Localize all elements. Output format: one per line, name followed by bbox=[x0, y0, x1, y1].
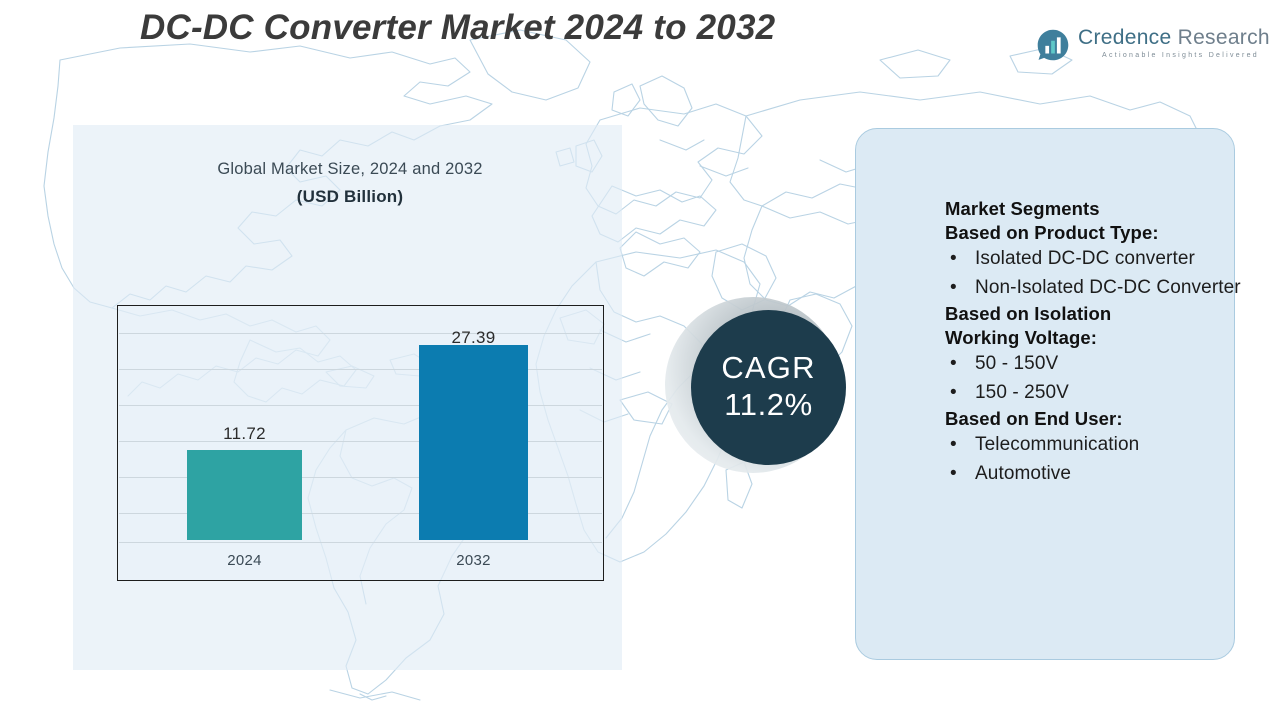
brand-part2: Research bbox=[1178, 26, 1270, 49]
list-item-label: Isolated DC-DC converter bbox=[975, 248, 1195, 269]
bullet-icon: • bbox=[950, 460, 957, 489]
bar-2032 bbox=[419, 345, 528, 540]
bullet-icon: • bbox=[950, 350, 957, 379]
x-axis-label-2032: 2032 bbox=[419, 552, 528, 569]
chart-heading-line2: (USD Billion) bbox=[80, 187, 620, 207]
gridline bbox=[119, 333, 602, 334]
list-item: • 150 - 250V bbox=[945, 379, 1245, 408]
list-item-label: Automotive bbox=[975, 463, 1071, 484]
cagr-label: CAGR bbox=[721, 352, 815, 385]
bar-2024 bbox=[187, 450, 302, 540]
list-item-label: 50 - 150V bbox=[975, 353, 1058, 374]
bullet-icon: • bbox=[950, 431, 957, 460]
bullet-icon: • bbox=[950, 379, 957, 408]
gridline bbox=[119, 405, 602, 406]
list-item-label: Non-Isolated DC-DC Converter bbox=[975, 277, 1241, 298]
brand-name: Credence Research bbox=[1078, 26, 1270, 50]
market-segments-content: Market Segments Based on Product Type: •… bbox=[945, 197, 1245, 488]
bar-chart-circle-icon bbox=[1036, 28, 1070, 62]
list-item: •Telecommunication bbox=[945, 431, 1245, 460]
segments-group-heading-product-type: Based on Product Type: bbox=[945, 221, 1245, 245]
cagr-badge: CAGR 11.2% bbox=[655, 285, 885, 515]
chart-heading-line1: Global Market Size, 2024 and 2032 bbox=[80, 160, 620, 179]
segments-list-isolation-voltage: •50 - 150V • 150 - 250V bbox=[945, 350, 1245, 407]
bar-value-2032: 27.39 bbox=[419, 328, 528, 348]
cagr-value: 11.2% bbox=[724, 387, 813, 423]
gridline bbox=[119, 369, 602, 370]
list-item: •Isolated DC-DC converter bbox=[945, 245, 1245, 274]
chart-heading: Global Market Size, 2024 and 2032 (USD B… bbox=[80, 160, 620, 207]
brand-tagline: Actionable Insights Delivered bbox=[1102, 52, 1259, 59]
bar-value-2024: 11.72 bbox=[187, 424, 302, 444]
segments-list-product-type: •Isolated DC-DC converter •Non-Isolated … bbox=[945, 245, 1245, 302]
brand-part1: Credence bbox=[1078, 26, 1171, 49]
page-title: DC-DC Converter Market 2024 to 2032 bbox=[140, 8, 775, 48]
segments-group-heading-isolation-line2: Working Voltage: bbox=[945, 326, 1245, 350]
bullet-icon: • bbox=[950, 274, 957, 303]
list-item: •Non-Isolated DC-DC Converter bbox=[945, 274, 1245, 303]
list-item: •50 - 150V bbox=[945, 350, 1245, 379]
cagr-circle: CAGR 11.2% bbox=[691, 310, 846, 465]
list-item: •Automotive bbox=[945, 460, 1245, 489]
list-item-label: 150 - 250V bbox=[975, 382, 1069, 403]
segments-list-end-user: •Telecommunication •Automotive bbox=[945, 431, 1245, 488]
list-item-label: Telecommunication bbox=[975, 434, 1139, 455]
segments-group-heading-end-user: Based on End User: bbox=[945, 407, 1245, 431]
segments-group-heading-isolation-line1: Based on Isolation bbox=[945, 302, 1245, 326]
brand-logo: Credence Research Actionable Insights De… bbox=[1036, 26, 1254, 68]
bullet-icon: • bbox=[950, 245, 957, 274]
gridline bbox=[119, 542, 602, 543]
bar-chart: 11.72 27.39 2024 2032 bbox=[117, 305, 604, 581]
segments-title: Market Segments bbox=[945, 197, 1245, 221]
x-axis-label-2024: 2024 bbox=[187, 552, 302, 569]
